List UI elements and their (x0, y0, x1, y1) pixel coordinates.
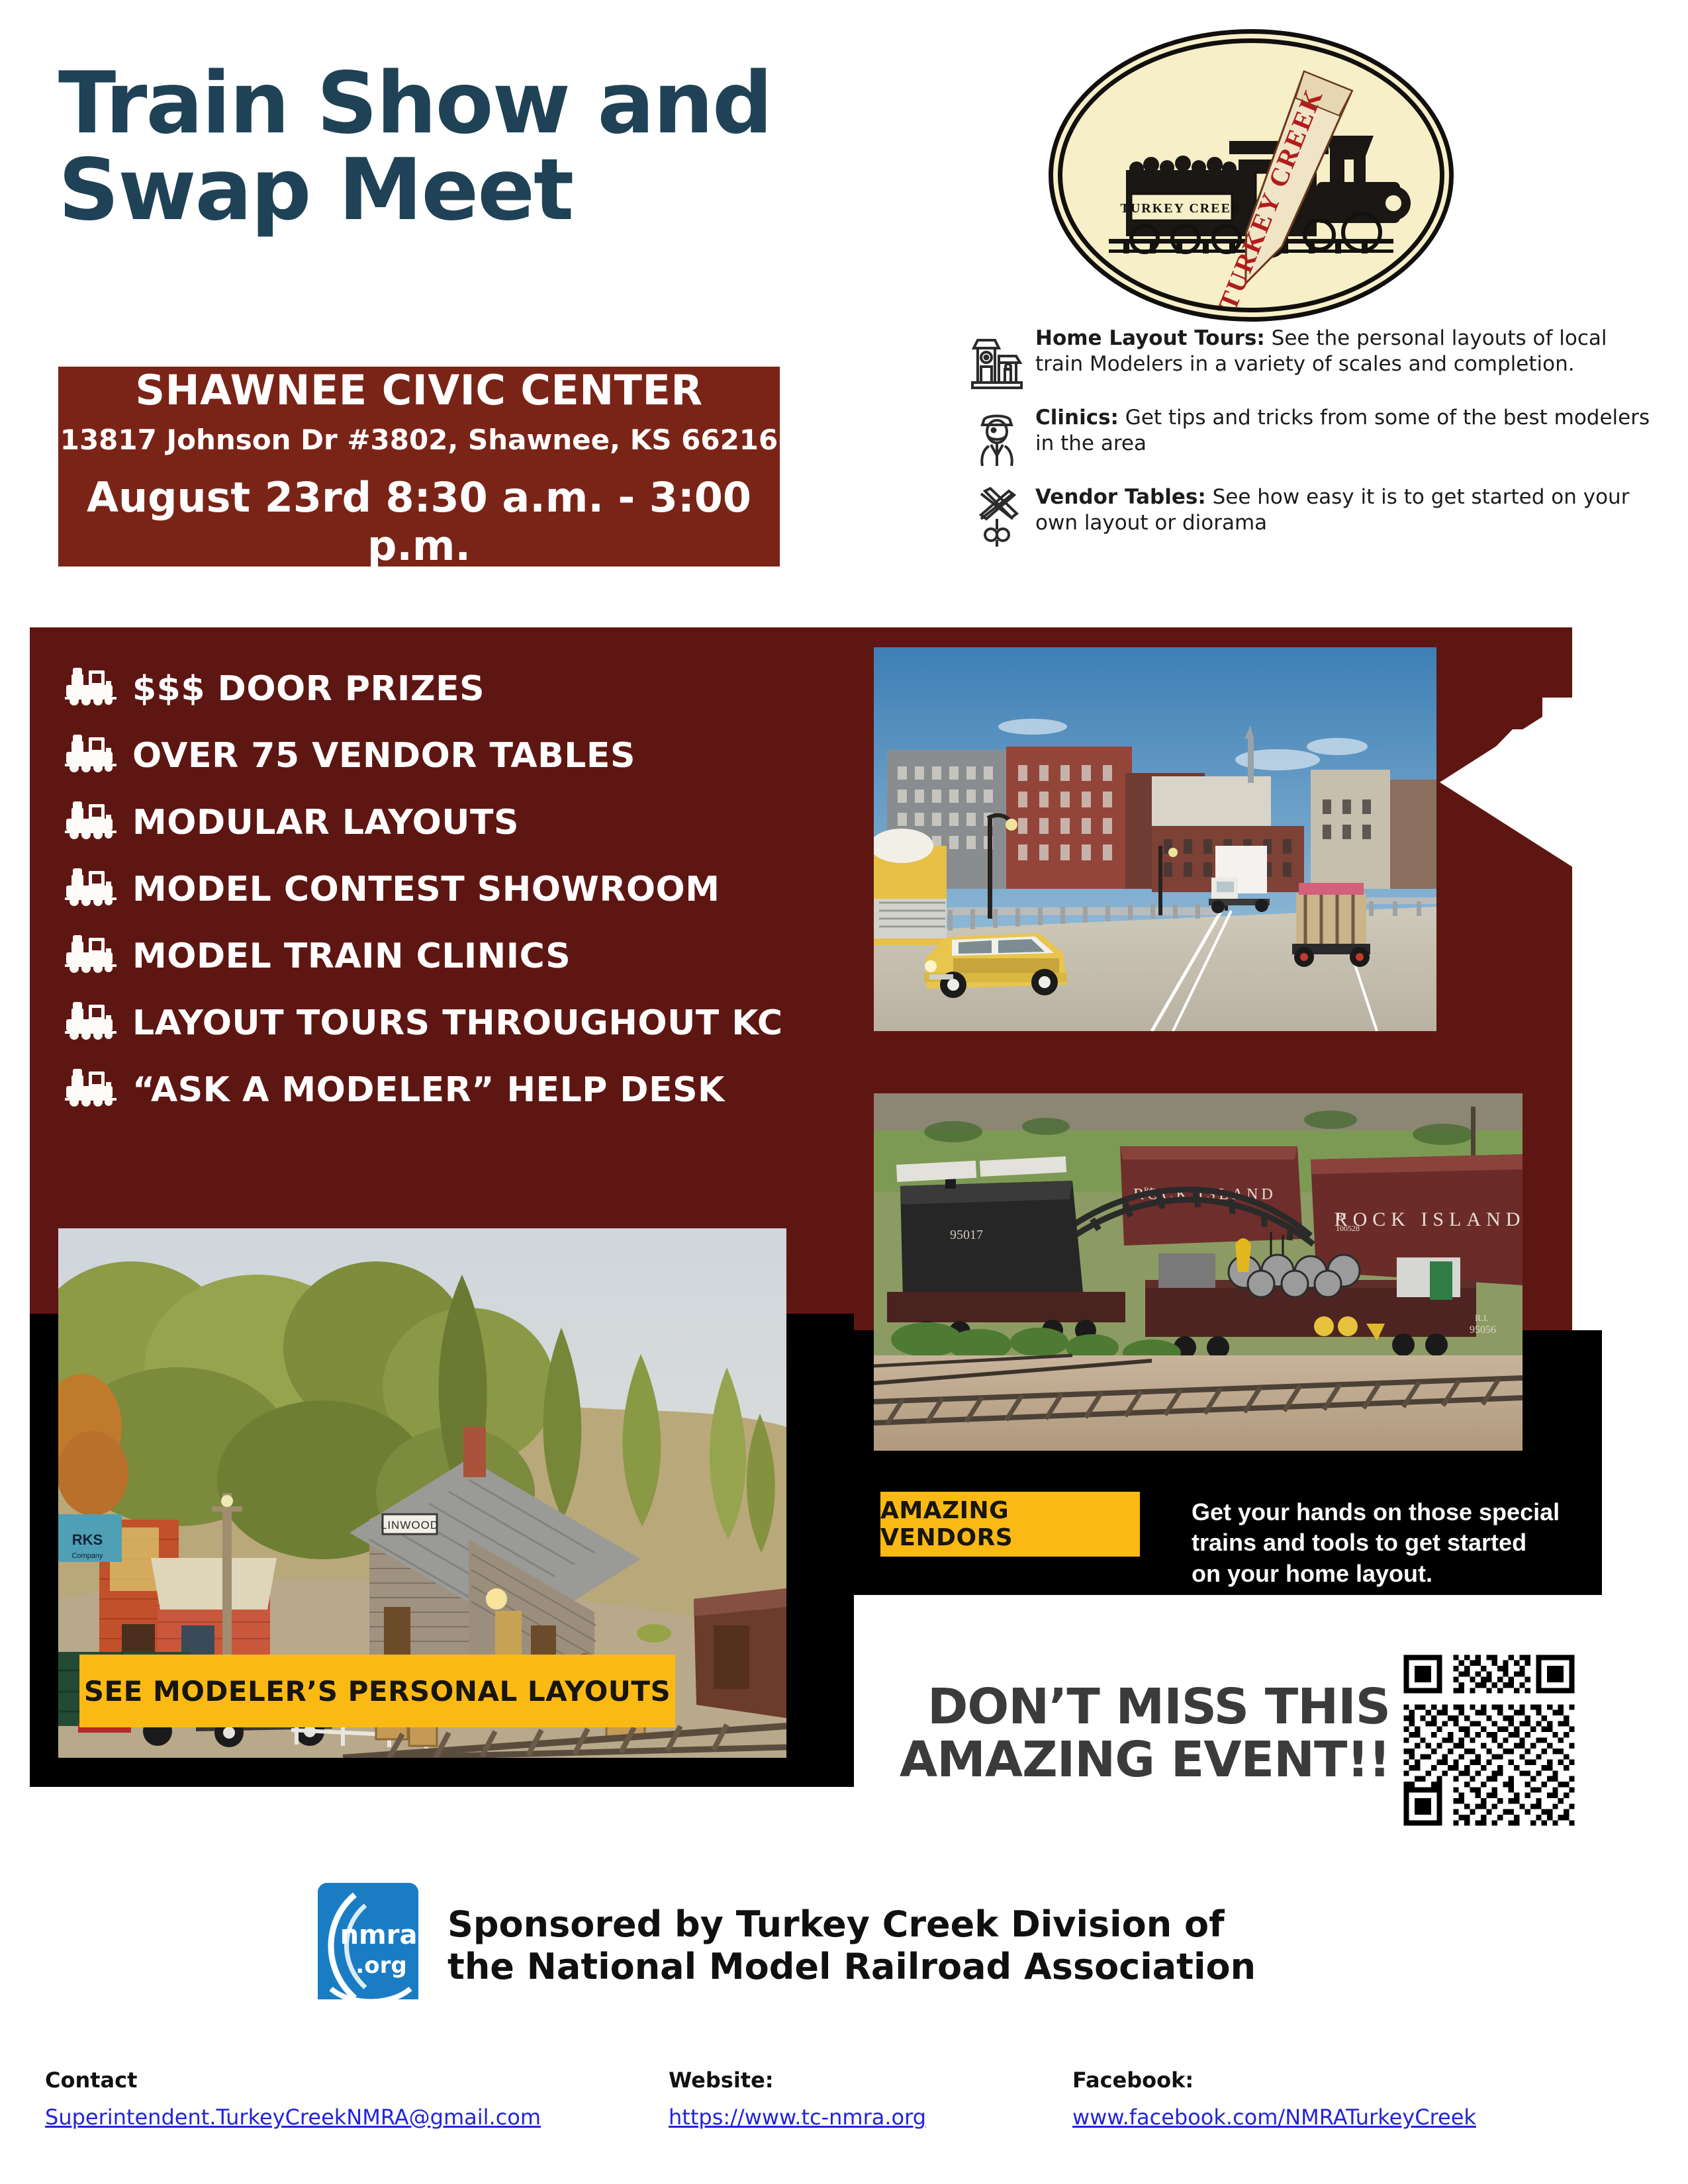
feature-item: LAYOUT TOURS THROUGHOUT KC (65, 989, 879, 1056)
venue-address: 13817 Johnson Dr #3802, Shawnee, KS 6621… (58, 424, 780, 456)
nmra-org-logo: nmra .org (318, 1883, 418, 2009)
footer-heading: Website: (669, 2068, 926, 2093)
locomotive-icon (65, 1001, 132, 1045)
depot-building-icon (959, 326, 1035, 389)
conductor-icon (959, 405, 1035, 469)
nmra-logo-text: nmra (340, 1920, 418, 1950)
caption-see-layouts: SEE MODELER’S PERSONAL LAYOUTS (79, 1655, 675, 1727)
feature-label: MODEL CONTEST SHOWROOM (132, 870, 720, 909)
info-item-heading: Vendor Tables: (1035, 485, 1206, 509)
svg-text:ROCK ISLAND: ROCK ISLAND (1335, 1208, 1523, 1230)
footer-email-link[interactable]: Superintendent.TurkeyCreekNMRA@gmail.com (45, 2105, 541, 2130)
locomotive-icon (65, 934, 132, 978)
info-list: Home Layout Tours: See the personal layo… (959, 326, 1660, 564)
page-title: Train Show and Swap Meet (58, 61, 886, 234)
info-item-home-layout-tours: Home Layout Tours: See the personal layo… (959, 326, 1660, 389)
locomotive-icon (65, 733, 132, 778)
caption-amazing-vendors: AMAZING VENDORS (880, 1492, 1140, 1557)
crossing-signal-icon (959, 484, 1035, 548)
footer-heading: Facebook: (1072, 2068, 1476, 2093)
info-item-clinics: Clinics: Get tips and tricks from some o… (959, 405, 1660, 469)
locomotive-logo-art: TURKEY CREEK (1062, 43, 1440, 308)
photo-crane-train: ROCK ISLAND RI ROCK ISLAND RI 100528 (874, 1093, 1523, 1451)
locomotive-icon (65, 666, 132, 711)
footer-heading: Contact (45, 2068, 541, 2093)
svg-text:95056: 95056 (1470, 1324, 1496, 1336)
sponsor-row: nmra .org Sponsored by Turkey Creek Divi… (318, 1883, 1377, 2009)
svg-text:100528: 100528 (1336, 1224, 1360, 1233)
feature-list: $$$ DOOR PRIZES OVER 75 VENDOR TABLES (65, 655, 879, 1123)
feature-item: $$$ DOOR PRIZES (65, 655, 879, 722)
feature-label: MODEL TRAIN CLINICS (132, 936, 571, 976)
feature-item: MODULAR LAYOUTS (65, 789, 879, 856)
info-item-heading: Home Layout Tours: (1035, 326, 1265, 350)
svg-text:RKS: RKS (72, 1531, 103, 1548)
svg-text:LINWOOD: LINWOOD (381, 1519, 439, 1531)
footer-website-column: Website: https://www.tc-nmra.org (669, 2068, 926, 2130)
feature-label: LAYOUT TOURS THROUGHOUT KC (132, 1003, 783, 1043)
svg-text:RI: RI (1337, 1212, 1346, 1222)
svg-text:R.I.: R.I. (1475, 1314, 1489, 1324)
venue-name: SHAWNEE CIVIC CENTER (58, 366, 780, 414)
feature-item: MODEL CONTEST SHOWROOM (65, 856, 879, 923)
locomotive-icon (65, 867, 132, 911)
info-item-body: Get tips and tricks from some of the bes… (1035, 406, 1650, 455)
feature-label: $$$ DOOR PRIZES (132, 669, 485, 709)
feature-label: MODULAR LAYOUTS (132, 803, 519, 842)
info-item-text: Clinics: Get tips and tricks from some o… (1035, 405, 1660, 457)
feature-label: OVER 75 VENDOR TABLES (132, 736, 635, 776)
info-item-text: Home Layout Tours: See the personal layo… (1035, 326, 1660, 377)
logo-oval: TURKEY CREEK (1058, 38, 1444, 312)
qr-code[interactable] (1398, 1649, 1580, 1831)
venue-datetime: August 23rd 8:30 a.m. - 3:00 p.m. (58, 473, 780, 570)
footer-contact-column: Contact Superintendent.TurkeyCreekNMRA@g… (45, 2068, 541, 2130)
svg-text:95017: 95017 (950, 1228, 983, 1242)
info-item-heading: Clinics: (1035, 406, 1119, 430)
footer-website-link[interactable]: https://www.tc-nmra.org (669, 2105, 926, 2130)
feature-label: “ASK A MODELER” HELP DESK (132, 1070, 725, 1110)
feature-item: “ASK A MODELER” HELP DESK (65, 1056, 879, 1123)
svg-text:TURKEY CREEK: TURKEY CREEK (1121, 201, 1243, 216)
footer-facebook-column: Facebook: www.facebook.com/NMRATurkeyCre… (1072, 2068, 1476, 2130)
sponsor-text: Sponsored by Turkey Creek Division of th… (447, 1903, 1256, 1987)
nmra-logo-text-org: .org (355, 1952, 406, 1979)
locomotive-icon (65, 1068, 132, 1112)
turkey-creek-logo: TURKEY CREEK (1058, 38, 1435, 303)
venue-info-box: SHAWNEE CIVIC CENTER 13817 Johnson Dr #3… (58, 367, 780, 567)
photo-city-bridge (874, 647, 1436, 1031)
info-item-text: Vendor Tables: See how easy it is to get… (1035, 484, 1660, 536)
footer-facebook-link[interactable]: www.facebook.com/NMRATurkeyCreek (1072, 2105, 1476, 2130)
feature-item: MODEL TRAIN CLINICS (65, 923, 879, 989)
cta-headline: DON’T MISS THIS AMAZING EVENT!! (887, 1681, 1390, 1787)
feature-item: OVER 75 VENDOR TABLES (65, 722, 879, 789)
svg-text:Company: Company (71, 1552, 103, 1560)
vendor-description: Get your hands on those special trains a… (1192, 1497, 1562, 1589)
locomotive-icon (65, 800, 132, 844)
info-item-vendor-tables: Vendor Tables: See how easy it is to get… (959, 484, 1660, 548)
